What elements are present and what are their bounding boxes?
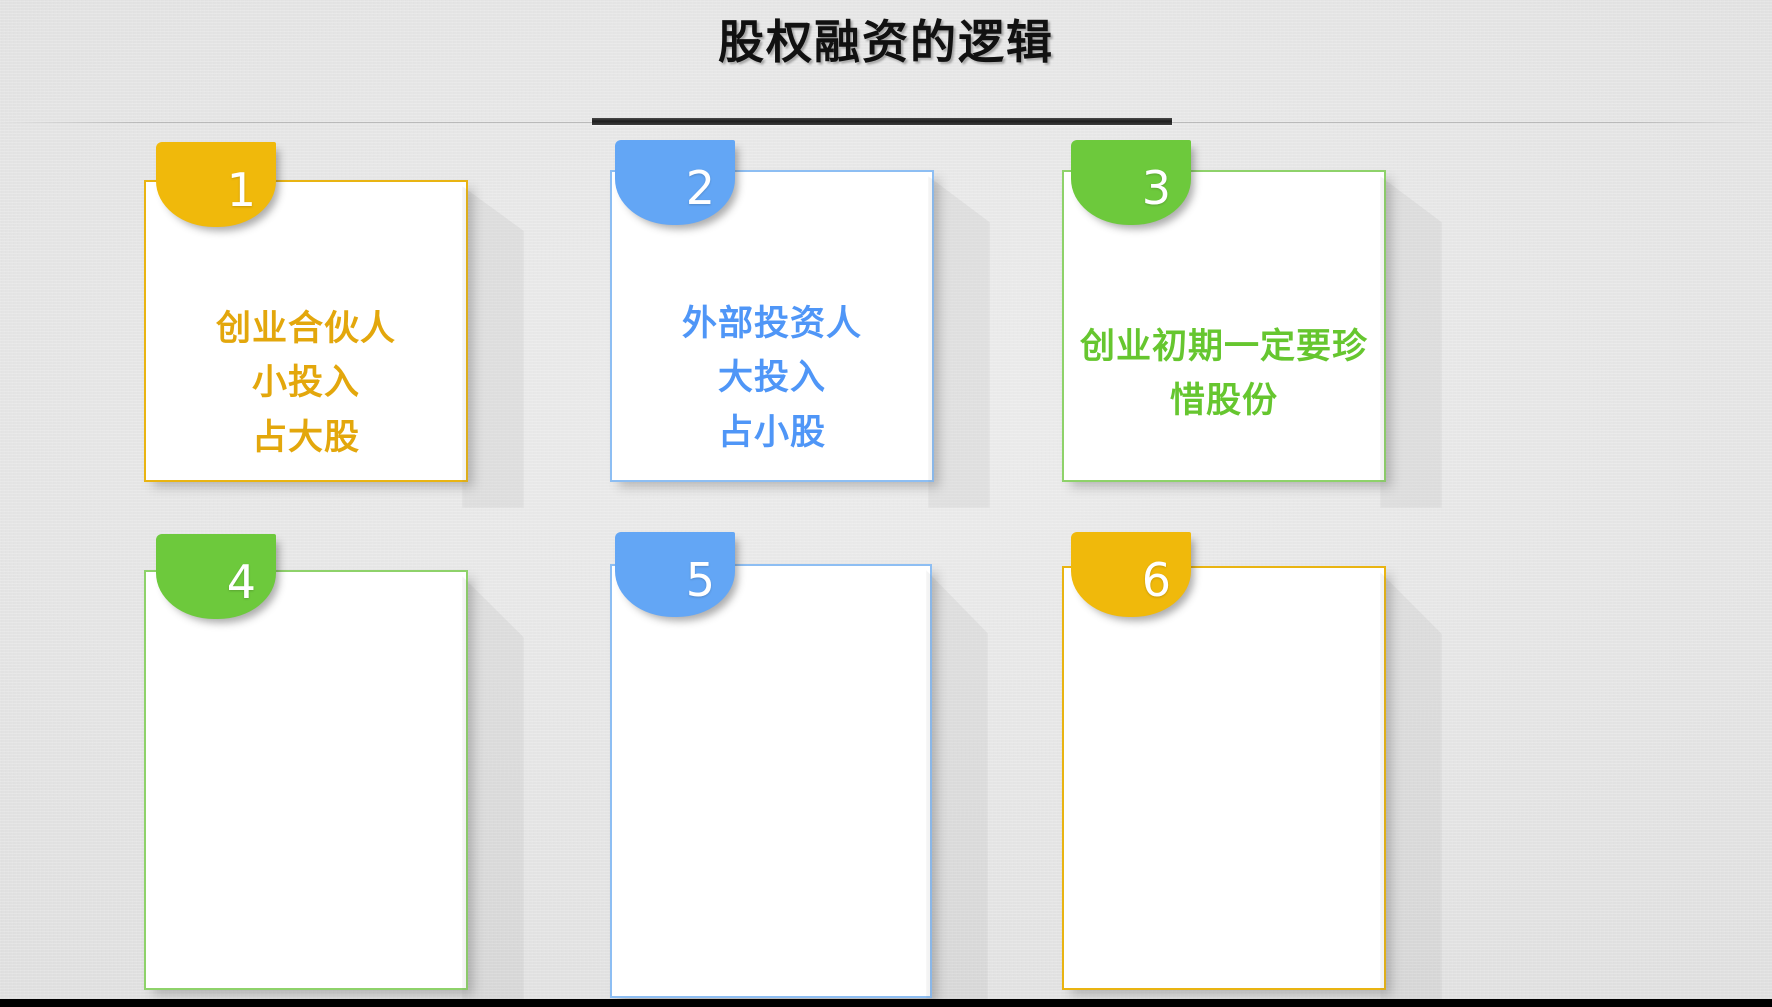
- title-underline-rule: [592, 118, 1172, 125]
- card-number-label: 1: [227, 167, 256, 213]
- card-number-badge[interactable]: 3: [1071, 140, 1191, 225]
- card-number-badge[interactable]: 4: [156, 534, 276, 619]
- card-number-label: 3: [1142, 165, 1171, 211]
- card-backdrop-wedge: [462, 186, 524, 508]
- card-backdrop-wedge: [926, 570, 988, 1007]
- card-text: 创业初期一定要珍 惜股份: [1064, 320, 1384, 429]
- card-backdrop-wedge: [1380, 572, 1442, 1007]
- card-number-badge[interactable]: 1: [156, 142, 276, 227]
- card-number-label: 5: [686, 557, 715, 603]
- info-card[interactable]: 创业合伙人 小投入 占大股: [144, 180, 468, 482]
- slide-canvas: 股权融资的逻辑 创业合伙人 小投入 占大股1外部投资人 大投入 占小股2创业初期…: [0, 0, 1772, 1007]
- card-text: 外部投资人 大投入 占小股: [612, 297, 932, 460]
- card-text: 创业合伙人 小投入 占大股: [146, 302, 466, 465]
- card-number-label: 4: [227, 559, 256, 605]
- info-card[interactable]: 不要给 一票否决权: [610, 564, 932, 998]
- page-title: 股权融资的逻辑: [0, 6, 1772, 72]
- card-number-badge[interactable]: 6: [1071, 532, 1191, 617]
- card-backdrop-wedge: [462, 576, 524, 1007]
- card-number-badge[interactable]: 2: [615, 140, 735, 225]
- card-number-badge[interactable]: 5: [615, 532, 735, 617]
- info-card[interactable]: 留出股权空间: [1062, 566, 1386, 990]
- card-number-label: 2: [686, 165, 715, 211]
- card-backdrop-wedge: [1380, 176, 1442, 508]
- card-number-label: 6: [1142, 557, 1171, 603]
- bottom-letterbox-bar: [0, 999, 1772, 1007]
- info-card[interactable]: 筛选投资人: [144, 570, 468, 990]
- card-backdrop-wedge: [928, 176, 990, 508]
